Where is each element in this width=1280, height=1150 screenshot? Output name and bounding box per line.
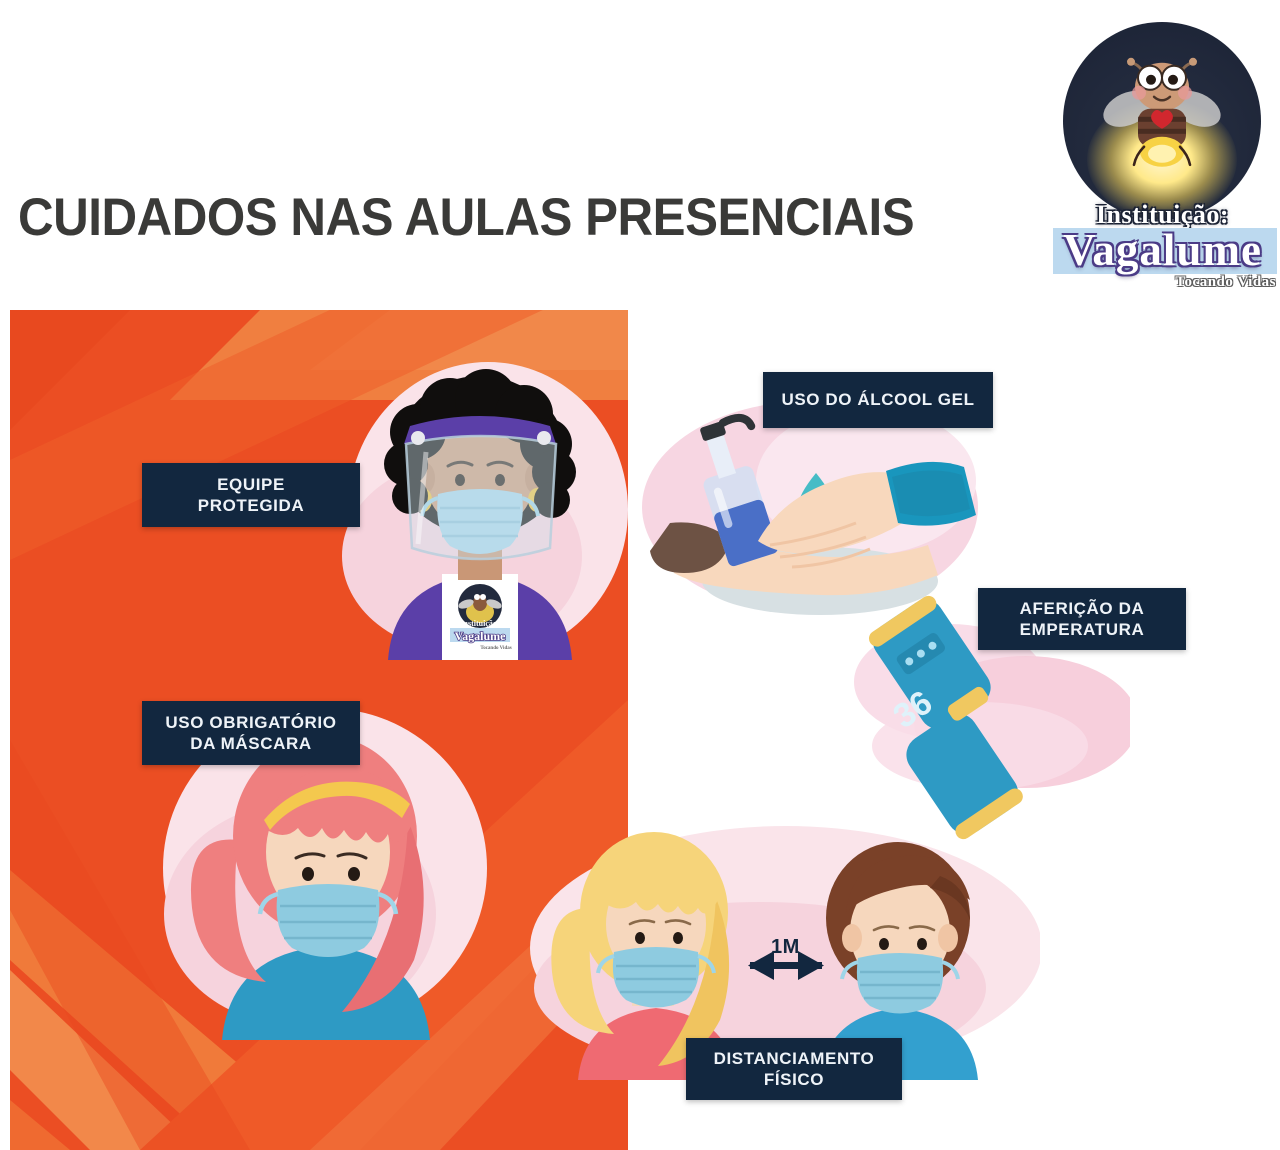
firefly-mascot-icon xyxy=(1102,51,1222,181)
illustration-equipe-protegida: Instituição: Vagalume Tocando Vidas xyxy=(330,360,630,660)
logo-circle xyxy=(1063,22,1261,220)
vagalume-badge-icon: Instituição: Vagalume Tocando Vidas xyxy=(448,582,512,652)
label-line-1: USO DO ÁLCOOL GEL xyxy=(781,389,974,410)
label-uso-da-mascara: USO OBRIGATÓRIO DA MÁSCARA xyxy=(142,701,360,765)
distance-label: 1M xyxy=(771,936,800,959)
label-line-1: USO OBRIGATÓRIO xyxy=(165,713,336,732)
vagalume-logo: Instituição: Vagalume Tocando Vidas xyxy=(1045,22,1280,287)
label-line-1: DISTANCIAMENTO xyxy=(714,1049,875,1068)
label-line-2: PROTEGIDA xyxy=(198,496,304,515)
label-distanciamento-fisico: DISTANCIAMENTO FÍSICO xyxy=(686,1038,902,1100)
label-line-1: AFERIÇÃO DA xyxy=(1020,599,1145,618)
svg-text:Vagalume: Vagalume xyxy=(455,629,507,643)
logo-name: Vagalume xyxy=(1045,224,1280,276)
label-afericao-temperatura: AFERIÇÃO DA EMPERATURA xyxy=(978,588,1186,650)
label-line-1: EQUIPE xyxy=(217,475,285,494)
page-title: CUIDADOS NAS AULAS PRESENCIAIS xyxy=(18,188,939,248)
label-line-2: FÍSICO xyxy=(764,1070,824,1089)
label-alcool-gel: USO DO ÁLCOOL GEL xyxy=(763,372,993,428)
svg-text:Tocando Vidas: Tocando Vidas xyxy=(480,646,511,651)
label-equipe-protegida: EQUIPE PROTEGIDA xyxy=(142,463,360,527)
svg-text:Instituição:: Instituição: xyxy=(460,619,499,628)
label-line-2: EMPERATURA xyxy=(1020,620,1145,639)
logo-tagline: Tocando Vidas xyxy=(1175,274,1276,291)
infographic-root: CUIDADOS NAS AULAS PRESENCIAIS xyxy=(0,0,1280,1150)
label-line-2: DA MÁSCARA xyxy=(190,734,312,753)
